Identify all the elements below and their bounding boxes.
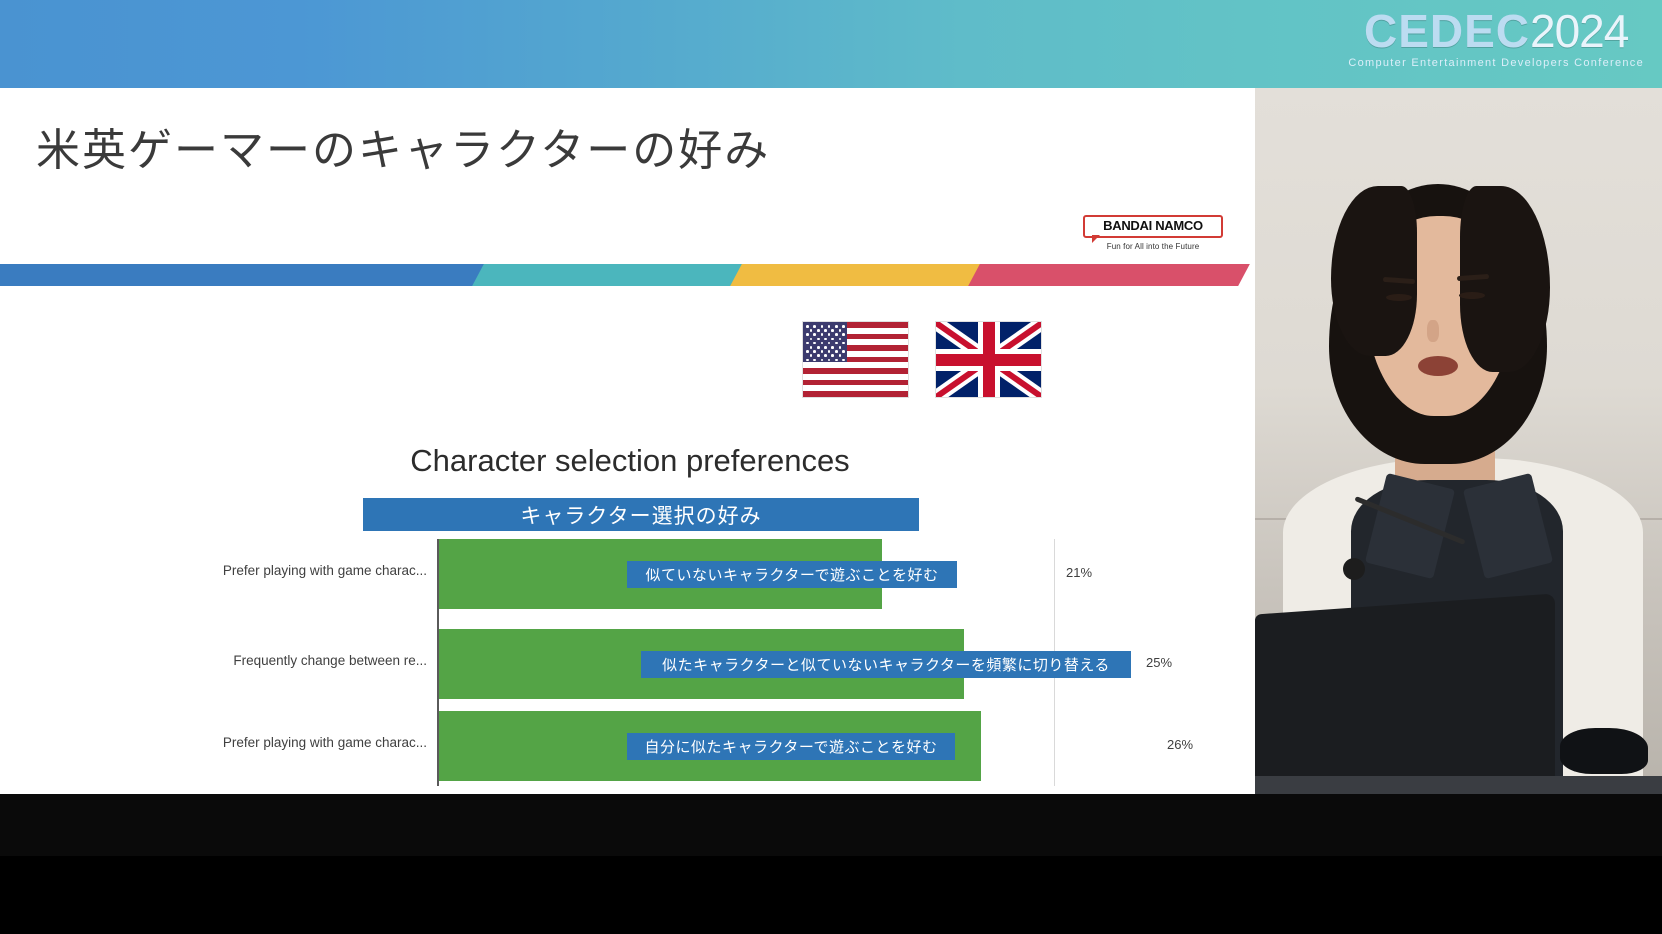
cedec-logo-word: CEDEC xyxy=(1364,5,1530,57)
us-flag-star xyxy=(835,350,838,353)
chart-category-label: Frequently change between re... xyxy=(233,653,427,668)
microphone-icon xyxy=(1343,558,1365,580)
chart-bar-annotation: 似ていないキャラクターで遊ぶことを好む xyxy=(627,561,957,588)
us-flag-stripe xyxy=(803,380,908,386)
bandai-namco-tagline: Fun for All into the Future xyxy=(1083,242,1223,251)
cedec-logo-subtitle: Computer Entertainment Developers Confer… xyxy=(1348,58,1644,69)
us-flag-star xyxy=(828,350,831,353)
chart-bar-annotation: 似たキャラクターと似ていないキャラクターを頻繁に切り替える xyxy=(641,651,1131,678)
us-flag-star xyxy=(806,333,809,336)
chart-subtitle-text: キャラクター選択の好み xyxy=(520,500,761,530)
us-flag-star xyxy=(821,359,824,362)
us-flag-star xyxy=(817,354,820,357)
chart: Character selection preferences キャラクター選択… xyxy=(180,443,1080,794)
us-flag-star xyxy=(810,338,813,341)
us-flag-star xyxy=(824,354,827,357)
us-flag-star xyxy=(839,354,842,357)
chart-bar-annotation-text: 自分に似たキャラクターで遊ぶことを好む xyxy=(644,736,937,757)
us-flag-star xyxy=(806,359,809,362)
us-flag-star xyxy=(810,354,813,357)
us-flag-star xyxy=(821,333,824,336)
us-flag-star xyxy=(831,338,834,341)
us-flag-star xyxy=(842,350,845,353)
title-ribbon xyxy=(0,264,1222,286)
us-flag-star xyxy=(821,325,824,328)
chart-bar-row: Prefer playing with game charac...自分に似たキ… xyxy=(180,711,1080,781)
us-flag-star xyxy=(817,338,820,341)
chart-category-label: Prefer playing with game charac... xyxy=(223,563,427,578)
ribbon-segment-yellow xyxy=(730,264,982,286)
us-flag-star xyxy=(813,342,816,345)
speaker-mouth xyxy=(1418,356,1458,376)
chart-bar-row: Prefer playing with game charac...似ていないキ… xyxy=(180,539,1080,609)
chart-bar-row: Frequently change between re...似たキャラクターと… xyxy=(180,629,1080,699)
chart-value-label: 21% xyxy=(1066,565,1092,580)
cedec-logo: CEDEC2024 Computer Entertainment Develop… xyxy=(1348,8,1644,69)
ribbon-segment-blue xyxy=(0,264,486,286)
us-flag-star xyxy=(821,350,824,353)
flag-group xyxy=(803,322,1041,397)
speaker-eye-left xyxy=(1386,294,1412,301)
ribbon-segment-red xyxy=(968,264,1250,286)
us-flag-star xyxy=(835,325,838,328)
us-flag-star xyxy=(839,338,842,341)
chart-bar-annotation-text: 似ていないキャラクターで遊ぶことを好む xyxy=(645,564,938,585)
speaker-nose xyxy=(1427,320,1439,342)
chart-bar-annotation: 自分に似たキャラクターで遊ぶことを好む xyxy=(627,733,955,760)
us-flag-star xyxy=(835,359,838,362)
us-flag-star xyxy=(806,342,809,345)
us-flag-star xyxy=(831,329,834,332)
speaker-eye-right xyxy=(1459,292,1485,299)
bandai-namco-name: BANDAI NAMCO xyxy=(1091,219,1215,233)
us-flag-star xyxy=(824,329,827,332)
us-flag-star xyxy=(813,325,816,328)
uk-flag-icon xyxy=(936,322,1041,397)
ribbon-segment-teal xyxy=(472,264,744,286)
bandai-namco-tail xyxy=(1092,235,1100,243)
us-flag-star xyxy=(831,346,834,349)
us-flag-star xyxy=(806,350,809,353)
bandai-namco-logo: BANDAI NAMCO Fun for All into the Future xyxy=(1083,215,1223,251)
chart-value-label: 25% xyxy=(1146,655,1172,670)
us-flag-star xyxy=(813,350,816,353)
us-flag-stripe xyxy=(803,368,908,374)
us-flag-star xyxy=(821,342,824,345)
uk-flag-cross-red-horizontal xyxy=(936,354,1041,366)
chart-bar-annotation-text: 似たキャラクターと似ていないキャラクターを頻繁に切り替える xyxy=(662,654,1110,675)
us-flag-star xyxy=(842,342,845,345)
us-flag-star xyxy=(806,325,809,328)
us-flag-star xyxy=(810,346,813,349)
desk-edge xyxy=(1255,776,1662,794)
us-flag-star xyxy=(828,333,831,336)
chart-category-label: Prefer playing with game charac... xyxy=(223,735,427,750)
top-banner: CEDEC2024 Computer Entertainment Develop… xyxy=(0,0,1662,88)
cedec-logo-main: CEDEC2024 xyxy=(1348,8,1644,54)
us-flag-icon xyxy=(803,322,908,397)
cedec-logo-year: 2024 xyxy=(1530,5,1628,57)
us-flag-star xyxy=(835,333,838,336)
chart-value-label: 26% xyxy=(1167,737,1193,752)
us-flag-star xyxy=(831,354,834,357)
screenshot-stage: CEDEC2024 Computer Entertainment Develop… xyxy=(0,0,1662,934)
bandai-namco-badge: BANDAI NAMCO xyxy=(1083,215,1223,238)
us-flag-star xyxy=(813,359,816,362)
us-flag-star xyxy=(824,338,827,341)
page-title: 米英ゲーマーのキャラクターの好み xyxy=(36,114,770,178)
chart-plot-area: Prefer playing with game charac...似ていないキ… xyxy=(180,539,1080,789)
desk-object xyxy=(1560,728,1648,774)
us-flag-star xyxy=(842,333,845,336)
us-flag-star xyxy=(839,346,842,349)
presentation-slide: 米英ゲーマーのキャラクターの好み BANDAI NAMCO Fun for Al… xyxy=(0,88,1255,794)
us-flag-star xyxy=(810,329,813,332)
us-flag-star xyxy=(839,329,842,332)
chart-title: Character selection preferences xyxy=(180,443,1080,479)
us-flag-star xyxy=(817,329,820,332)
us-flag-star xyxy=(824,346,827,349)
us-flag-star xyxy=(813,333,816,336)
chart-subtitle-banner: キャラクター選択の好み xyxy=(363,498,919,531)
us-flag-star xyxy=(842,325,845,328)
letterbox-bottom xyxy=(0,856,1662,934)
speaker-video-pane xyxy=(1255,88,1662,794)
us-flag-star xyxy=(842,359,845,362)
us-flag-canton xyxy=(803,322,847,362)
us-flag-stripe xyxy=(803,391,908,397)
us-flag-star xyxy=(828,359,831,362)
us-flag-star xyxy=(817,346,820,349)
us-flag-star xyxy=(828,342,831,345)
us-flag-star xyxy=(828,325,831,328)
us-flag-star xyxy=(835,342,838,345)
laptop xyxy=(1255,594,1555,794)
